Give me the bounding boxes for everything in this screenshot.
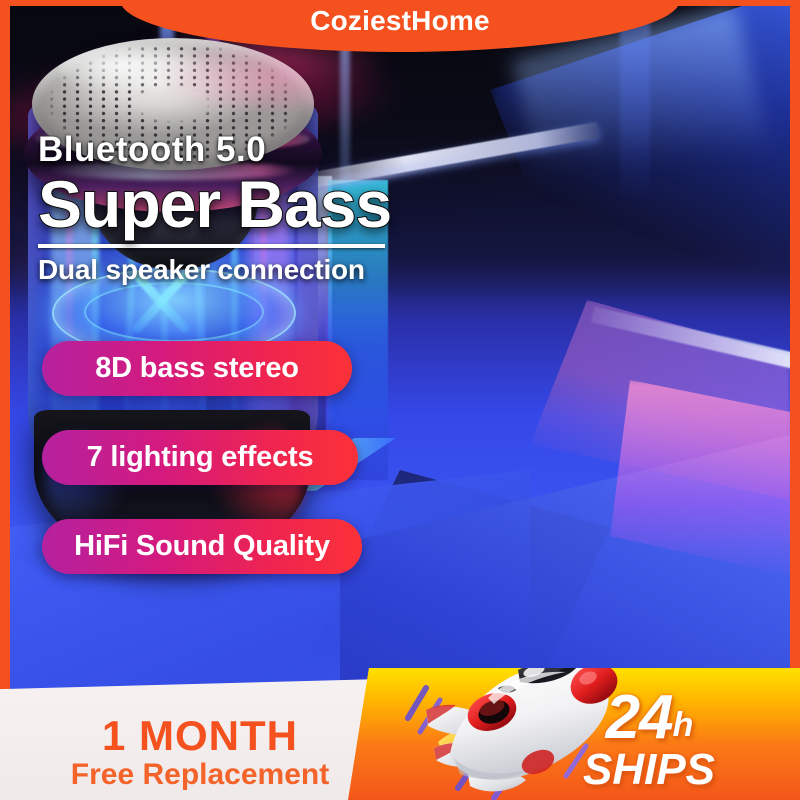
promo-warranty-duration: 1 MONTH — [55, 715, 345, 757]
headline-subtitle: Dual speaker connection — [38, 254, 438, 286]
promo-banner: 1 MONTH Free Replacement 24h SHIPS — [0, 668, 800, 800]
promo-warranty-detail: Free Replacement — [55, 760, 345, 790]
feature-pill-list: 8D bass stereo 7 lighting effects HiFi S… — [42, 341, 362, 608]
speaker-grille-pink-reflection — [156, 38, 314, 109]
promo-shipping-unit: h — [673, 706, 693, 744]
feature-pill-hifi: HiFi Sound Quality — [42, 519, 362, 574]
headline-divider — [38, 244, 385, 248]
promo-warranty-block: 1 MONTH Free Replacement — [55, 715, 345, 790]
brand-name: CoziestHome — [310, 5, 490, 37]
feature-pill-lighting: 7 lighting effects — [42, 430, 358, 485]
headline-block: Bluetooth 5.0 Super Bass Dual speaker co… — [38, 130, 438, 286]
rocket-icon — [398, 668, 628, 800]
headline-eyebrow: Bluetooth 5.0 — [38, 130, 438, 170]
rocket-illustration — [398, 668, 628, 800]
frame-border-top — [0, 0, 800, 6]
product-advertisement: Bluetooth 5.0 Super Bass Dual speaker co… — [0, 0, 800, 800]
feature-pill-bass: 8D bass stereo — [42, 341, 352, 396]
page-title: Super Bass — [38, 172, 438, 237]
